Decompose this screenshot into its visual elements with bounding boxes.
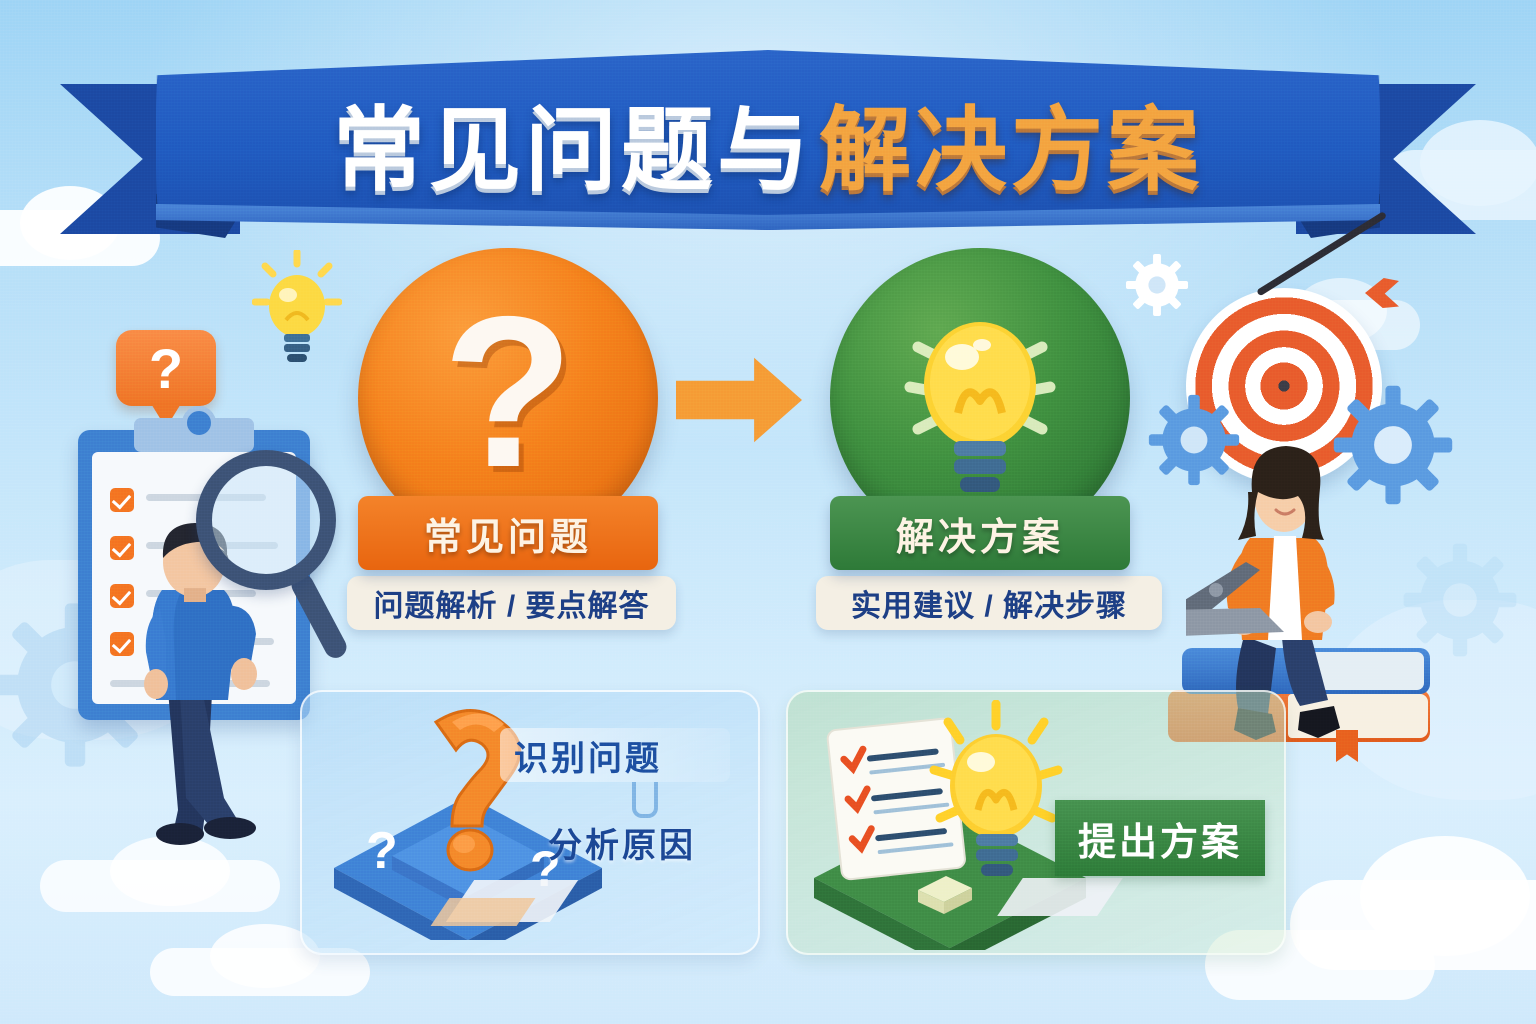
title-white-text: 常见问题与 [333,76,813,209]
step-label-identify: 识别问题 [500,728,730,782]
question-speech-bubble: ? [116,330,216,406]
card-common-problems[interactable]: ? 常见问题 问题解析 / 要点解答 [340,248,676,630]
clipboard-clamp [134,418,254,452]
step-label-analyze: 分析原因 [548,818,696,867]
gear-icon-white [1124,252,1190,318]
svg-text:?: ? [366,822,398,880]
step-label-propose: 提出方案 [1055,800,1265,876]
gear-icon-faint [1400,540,1520,660]
flow-arrow-right [676,352,802,448]
checkbox-checked [110,488,134,512]
card-subtitle-problems: 问题解析 / 要点解答 [347,576,676,630]
card-subtitle-solutions: 实用建议 / 解决步骤 [816,576,1162,630]
lightbulb-icon [252,250,342,370]
infographic-canvas: 常见问题与 解决方案 ? [0,0,1536,1024]
card-solutions[interactable]: 解决方案 实用建议 / 解决步骤 [812,248,1148,630]
magnifier-ring [196,450,336,590]
title-orange-text: 解决方案 [819,76,1203,209]
card-label-solutions: 解决方案 [830,496,1130,570]
magnifier-icon [196,450,336,590]
page-title: 常见问题与 解决方案 [60,44,1476,240]
arrow-shape [676,352,802,448]
step-connector-bracket [632,782,658,818]
title-banner: 常见问题与 解决方案 [60,44,1476,244]
speech-bubble-question-glyph: ? [149,336,183,401]
card-label-problems: 常见问题 [358,496,658,570]
